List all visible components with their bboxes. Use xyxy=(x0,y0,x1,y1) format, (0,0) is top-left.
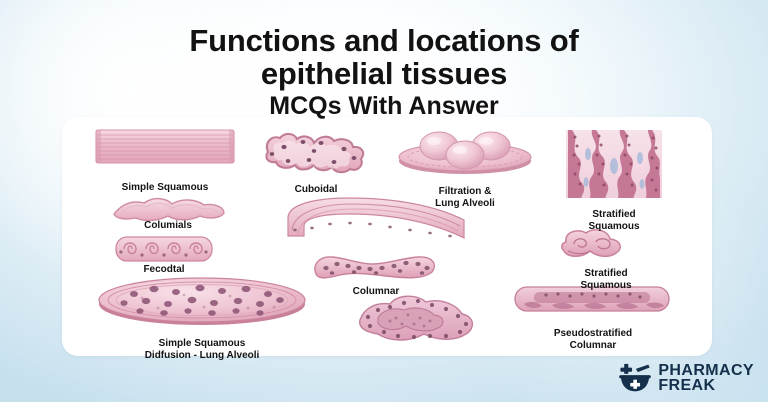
page-title: Functions and locations of epithelial ti… xyxy=(0,24,768,123)
label-cuboidal: Cuboidal xyxy=(240,172,392,196)
label-filtration-lung-alveoli: Filtration & Lung Alveoli xyxy=(385,174,545,211)
filtration-lung-alveoli-figure xyxy=(396,128,534,176)
label-columnar: Columnar xyxy=(300,274,452,298)
poster-canvas: Functions and locations of epithelial ti… xyxy=(0,0,768,402)
mortar-and-pestle-icon xyxy=(618,363,652,393)
stratified-squamous-histology-figure xyxy=(566,130,662,198)
title-line-2: epithelial tissues xyxy=(0,57,768,90)
label-simple-squamous-diffusion: Simple Squamous Didfusion - Lung Alveoli xyxy=(96,326,308,363)
simple-squamous-diffusion-figure xyxy=(96,274,308,326)
label-pseudostratified-columnar: Pseudostratified Columnar xyxy=(510,316,676,353)
label-stratified-squamous-2: Stratified Squamous xyxy=(540,256,672,293)
pharmacy-freak-logo[interactable]: PHARMACY FREAK xyxy=(618,363,754,394)
label-simple-squamous: Simple Squamous xyxy=(80,170,250,194)
label-fecodtal: Fecodtal xyxy=(102,252,226,276)
label-stratified-squamous-1: Stratified Squamous xyxy=(548,197,680,234)
title-line-1: Functions and locations of xyxy=(0,24,768,57)
cuboidal-figure xyxy=(258,130,372,174)
logo-wordmark: PHARMACY FREAK xyxy=(658,363,754,394)
simple-squamous-figure xyxy=(92,126,238,168)
label-columials: Columials xyxy=(100,208,236,232)
logo-line-1: PHARMACY xyxy=(658,363,754,379)
page-subtitle: MCQs With Answer xyxy=(0,91,768,122)
epithelial-plate-figure xyxy=(356,290,478,348)
logo-line-2: FREAK xyxy=(658,378,754,394)
